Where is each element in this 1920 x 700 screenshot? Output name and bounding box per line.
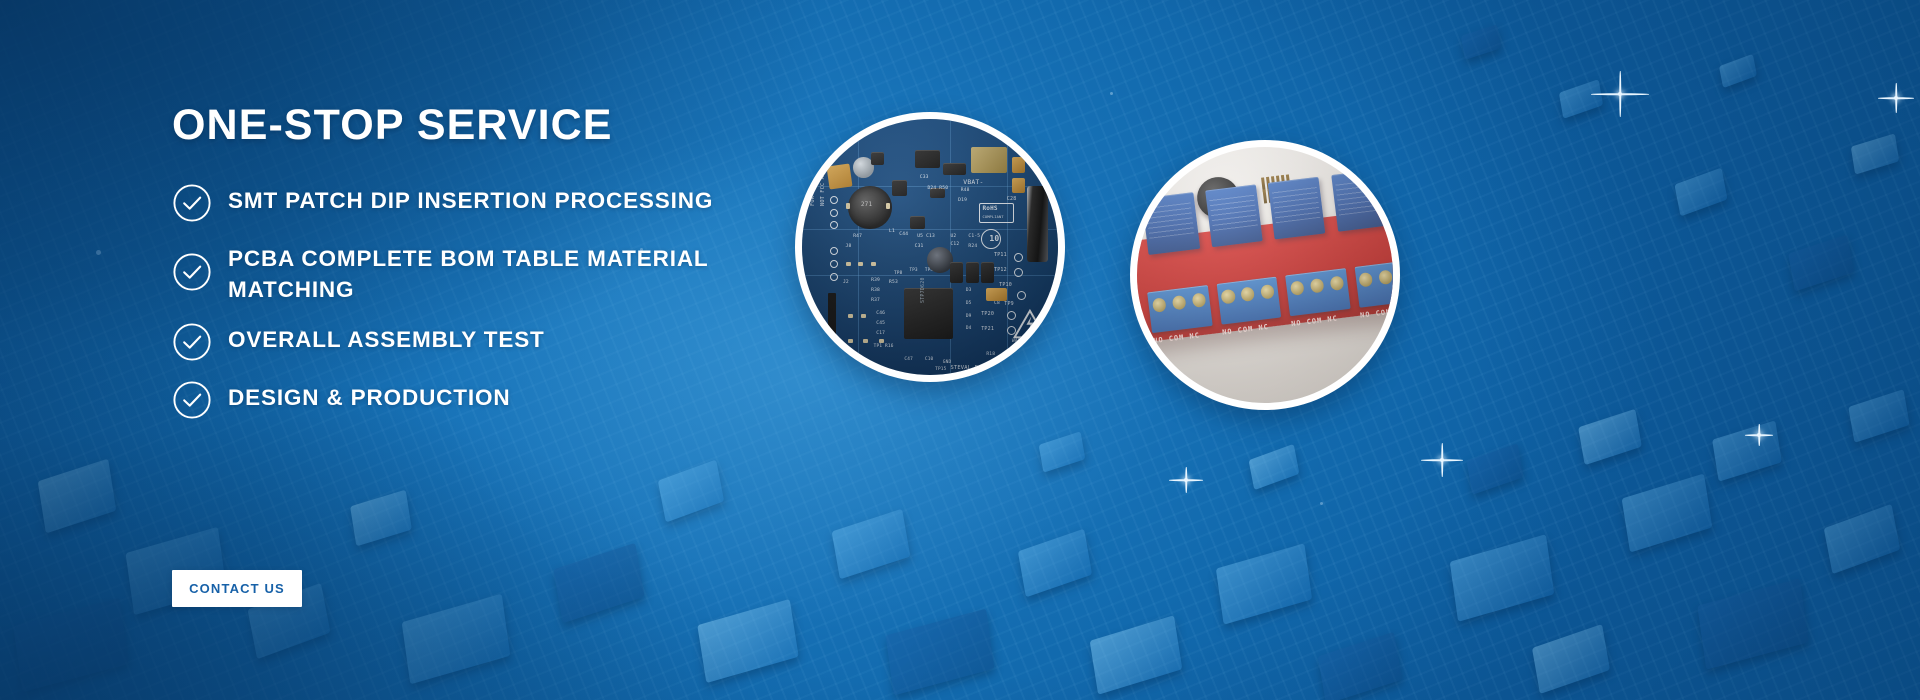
- feature-label: OVERALL ASSEMBLY TEST: [228, 321, 545, 355]
- pcb-circle-photo: FOR EVALUATION NOT FCC APPROVED FOR RE 2…: [795, 112, 1065, 382]
- contact-us-button[interactable]: CONTACT US: [172, 570, 302, 607]
- feature-list: SMT PATCH DIP INSERTION PROCESSING PCBA …: [172, 182, 832, 437]
- hero-banner: ONE-STOP SERVICE SMT PATCH DIP INSERTION…: [0, 0, 1920, 700]
- check-circle-icon: [172, 183, 212, 223]
- relay-module-circle-photo: NO COM NC NO COM NC NO COM NC NO COM: [1130, 140, 1400, 410]
- feature-label: PCBA COMPLETE BOM TABLE MATERIAL MATCHIN…: [228, 240, 788, 305]
- page-title: ONE-STOP SERVICE: [172, 104, 613, 147]
- list-item: OVERALL ASSEMBLY TEST: [172, 321, 832, 362]
- check-circle-icon: [172, 322, 212, 362]
- relay-photo-art: NO COM NC NO COM NC NO COM NC NO COM: [1137, 147, 1393, 403]
- pcb-photo-art: FOR EVALUATION NOT FCC APPROVED FOR RE 2…: [802, 119, 1058, 375]
- list-item: PCBA COMPLETE BOM TABLE MATERIAL MATCHIN…: [172, 240, 832, 305]
- list-item: DESIGN & PRODUCTION: [172, 379, 832, 420]
- feature-label: SMT PATCH DIP INSERTION PROCESSING: [228, 182, 713, 216]
- check-circle-icon: [172, 252, 212, 292]
- contact-us-button-label: CONTACT US: [189, 581, 285, 596]
- list-item: SMT PATCH DIP INSERTION PROCESSING: [172, 182, 832, 223]
- banner-content: ONE-STOP SERVICE SMT PATCH DIP INSERTION…: [172, 0, 812, 700]
- feature-label: DESIGN & PRODUCTION: [228, 379, 510, 413]
- check-circle-icon: [172, 380, 212, 420]
